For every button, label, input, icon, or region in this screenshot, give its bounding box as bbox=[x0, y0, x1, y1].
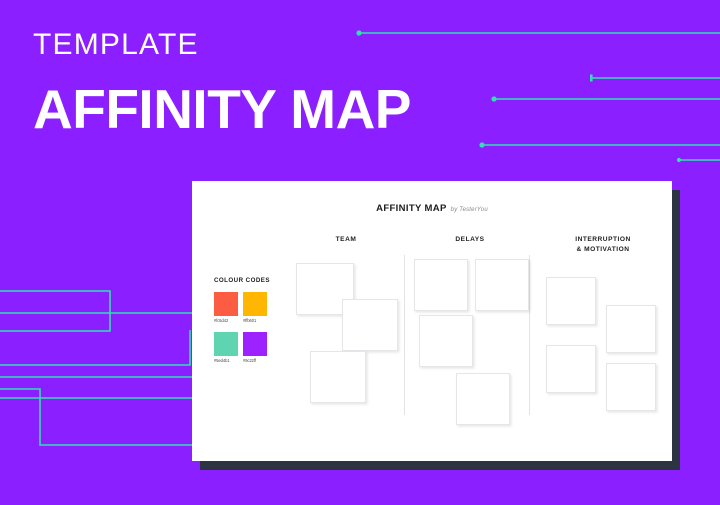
board-title: AFFINITY MAP bbox=[376, 203, 447, 214]
sticky-note[interactable] bbox=[606, 363, 656, 411]
column-header-interruption-motivation: INTERRUPTION & MOTIVATION bbox=[548, 235, 658, 254]
colour-swatch-1[interactable] bbox=[214, 292, 238, 316]
colour-hex-1: #fc5d42 bbox=[214, 318, 238, 323]
column-divider-2 bbox=[529, 255, 530, 415]
template-label: TEMPLATE bbox=[33, 30, 199, 60]
sticky-note[interactable] bbox=[456, 373, 510, 425]
colour-codes-panel: COLOUR CODES #fc5d42 #ffb601 #5ed4b1 #9c… bbox=[214, 277, 272, 372]
column-header-delays: DELAYS bbox=[424, 235, 516, 245]
sticky-note[interactable] bbox=[606, 305, 656, 353]
sticky-note[interactable] bbox=[419, 315, 473, 367]
page-title: AFFINITY MAP bbox=[33, 82, 411, 137]
hex-row-1: #fc5d42 #ffb601 bbox=[214, 318, 272, 323]
colour-hex-4: #9c22ff bbox=[243, 358, 267, 363]
colour-hex-2: #ffb601 bbox=[243, 318, 267, 323]
board-byline: by TesterYou bbox=[451, 207, 488, 213]
sticky-note[interactable] bbox=[414, 259, 468, 311]
column-divider-1 bbox=[404, 255, 405, 415]
hex-row-2: #5ed4b1 #9c22ff bbox=[214, 358, 272, 363]
colour-swatch-2[interactable] bbox=[243, 292, 267, 316]
affinity-map-board: AFFINITY MAPby TesterYou COLOUR CODES #f… bbox=[192, 181, 672, 461]
column-header-team: TEAM bbox=[300, 235, 392, 245]
sticky-note[interactable] bbox=[342, 299, 398, 351]
colour-swatch-3[interactable] bbox=[214, 332, 238, 356]
column-header-line-2: & MOTIVATION bbox=[548, 245, 658, 255]
column-header-line-1: INTERRUPTION bbox=[548, 235, 658, 245]
sticky-note[interactable] bbox=[546, 277, 596, 325]
colour-swatch-4[interactable] bbox=[243, 332, 267, 356]
swatch-row-1 bbox=[214, 292, 272, 316]
colour-hex-3: #5ed4b1 bbox=[214, 358, 238, 363]
board-header: AFFINITY MAPby TesterYou bbox=[192, 198, 672, 216]
colour-codes-title: COLOUR CODES bbox=[214, 277, 272, 284]
sticky-note[interactable] bbox=[546, 345, 596, 393]
sticky-note[interactable] bbox=[310, 351, 366, 403]
sticky-note[interactable] bbox=[475, 259, 529, 311]
swatch-row-2 bbox=[214, 332, 272, 356]
